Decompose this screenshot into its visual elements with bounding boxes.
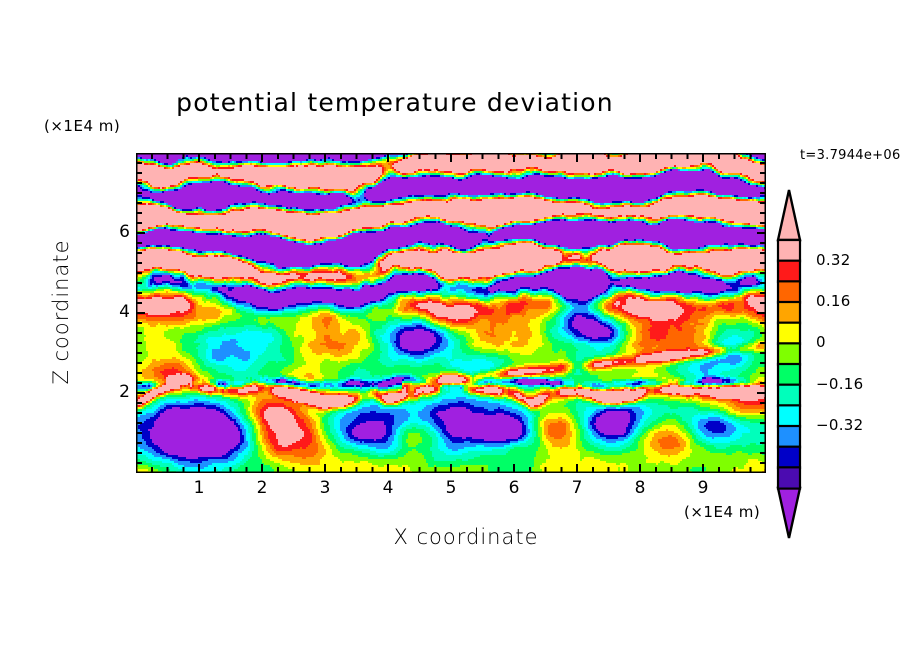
colorbar-tick-label: −0.16 [816, 375, 863, 393]
x-tick-label: 8 [625, 478, 655, 498]
y-tick-label: 4 [100, 302, 130, 322]
x-tick-label: 4 [373, 478, 403, 498]
contour-plot [136, 153, 766, 473]
x-tick-label: 3 [310, 478, 340, 498]
colorbar-tick-label: 0.16 [816, 292, 851, 310]
x-tick-label: 1 [184, 478, 214, 498]
colorbar-tick-label: 0.32 [816, 251, 851, 269]
page-title: potential temperature deviation [0, 88, 790, 117]
y-tick-label: 6 [100, 222, 130, 242]
z-axis-title: Z coordinate [49, 232, 73, 392]
colorbar [776, 188, 802, 540]
x-tick-label: 9 [688, 478, 718, 498]
timestamp-annotation: t=3.7944e+06 [800, 148, 901, 163]
x-axis-title: X coordinate [246, 525, 686, 549]
x-tick-label: 2 [247, 478, 277, 498]
z-axis-unit-label: (×1E4 m) [44, 117, 120, 135]
x-tick-label: 7 [562, 478, 592, 498]
x-axis-unit-label: (×1E4 m) [684, 503, 760, 521]
y-tick-label: 2 [100, 382, 130, 402]
colorbar-tick-label: 0 [816, 333, 826, 351]
colorbar-tick-label: −0.32 [816, 416, 863, 434]
x-tick-label: 6 [499, 478, 529, 498]
x-tick-label: 5 [436, 478, 466, 498]
